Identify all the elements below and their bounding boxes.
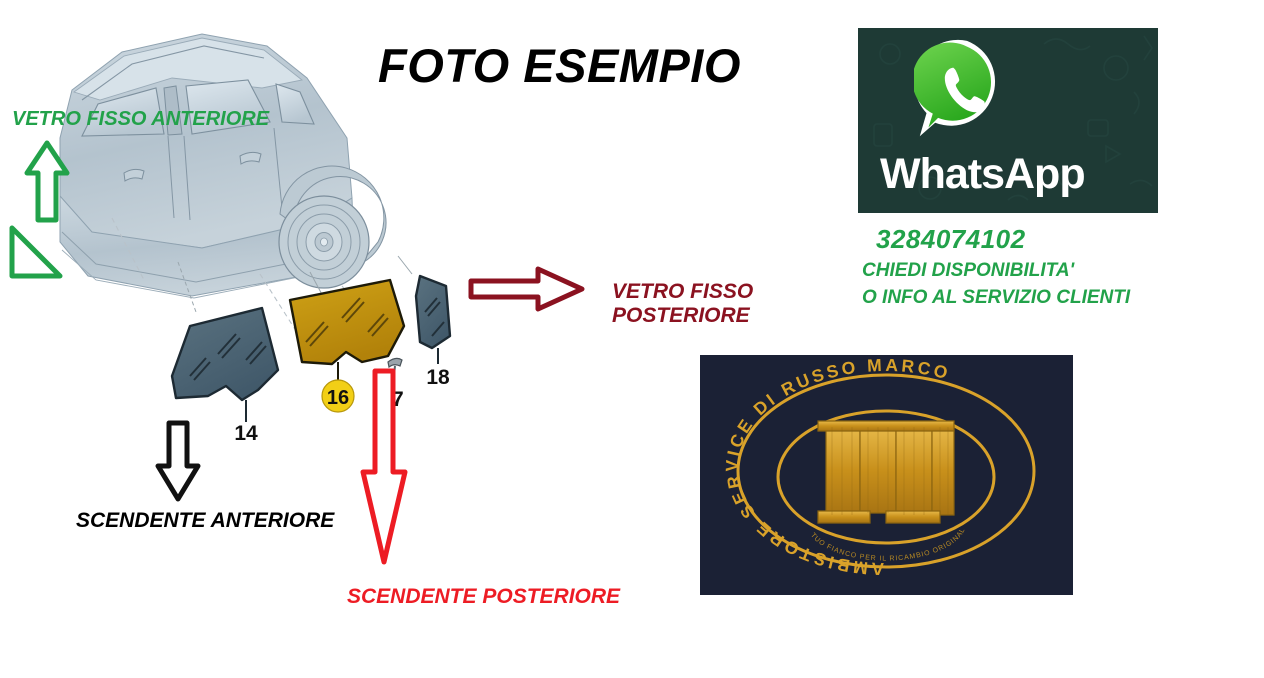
whatsapp-wordmark: WhatsApp <box>880 150 1158 199</box>
mricambistore-logo-icon: MRICAMBISTORE SERVICE DI RUSSO MARCO AL … <box>700 355 1073 595</box>
contact-line-1: CHIEDI DISPONIBILITA' <box>862 260 1242 282</box>
phone-number: 3284074102 <box>876 224 1242 255</box>
right-arrow-dark-red-icon <box>468 266 586 312</box>
down-arrow-red-icon <box>360 368 408 568</box>
whatsapp-banner: WhatsApp <box>858 28 1158 213</box>
up-arrow-green-icon <box>24 140 70 224</box>
triangle-pointer-green-icon <box>6 222 66 282</box>
callout-scendente-posteriore: SCENDENTE POSTERIORE <box>347 585 620 609</box>
callout-vetro-fisso-posteriore: VETRO FISSO POSTERIORE <box>612 280 753 327</box>
whatsapp-icon <box>914 36 1020 142</box>
page-title: FOTO ESEMPIO <box>378 38 741 93</box>
part-18-shape: 18 <box>416 276 450 389</box>
svg-text:16: 16 <box>327 387 349 409</box>
svg-text:14: 14 <box>234 422 258 445</box>
shop-logo-photo: MRICAMBISTORE SERVICE DI RUSSO MARCO AL … <box>700 355 1073 595</box>
contact-line-2: O INFO AL SERVIZIO CLIENTI <box>862 287 1242 309</box>
callout-vetro-fisso-anteriore: VETRO FISSO ANTERIORE <box>12 108 269 130</box>
contact-block: 3284074102 CHIEDI DISPONIBILITA' O INFO … <box>862 224 1242 309</box>
svg-text:18: 18 <box>426 366 450 389</box>
down-arrow-black-icon <box>155 420 201 502</box>
poster-canvas: 14 16 17 18 <box>0 0 1264 678</box>
callout-scendente-anteriore: SCENDENTE ANTERIORE <box>76 509 334 533</box>
